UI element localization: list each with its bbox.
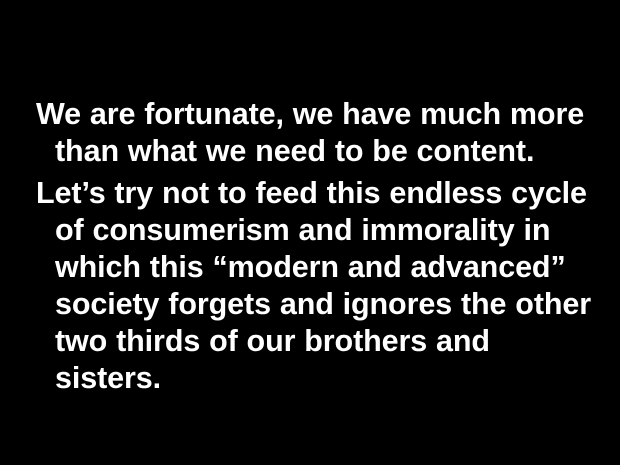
slide-paragraph-2: Let’s try not to feed this endless cycle… [36,175,598,397]
slide-paragraph-1: We are fortunate, we have much more than… [36,96,598,170]
slide-text-body: We are fortunate, we have much more than… [0,96,620,397]
presentation-slide: We are fortunate, we have much more than… [0,0,620,465]
